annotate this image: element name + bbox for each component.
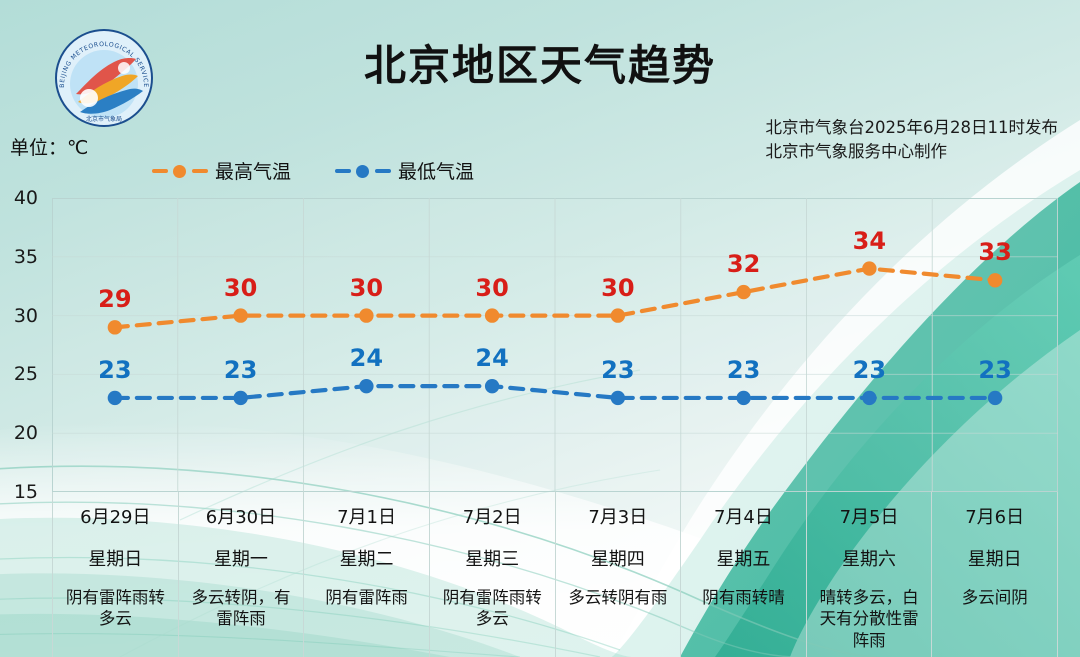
high-temp-label: 30 xyxy=(601,274,634,302)
day-weekday: 星期日 xyxy=(53,545,178,571)
day-date: 6月29日 xyxy=(53,503,178,529)
day-weather-description: 多云转阴，有雷阵雨 xyxy=(179,587,304,630)
legend-marker-low-icon xyxy=(335,164,391,178)
legend-item-high-temp: 最高气温 xyxy=(152,157,291,184)
day-weather-description: 多云转阴有雨 xyxy=(556,587,681,608)
chart-legend: 最高气温 最低气温 xyxy=(152,157,474,184)
y-axis-tick: 25 xyxy=(14,363,38,385)
high-temp-label: 34 xyxy=(853,227,886,255)
high-temp-label: 32 xyxy=(727,250,760,278)
data-point-high xyxy=(862,261,876,275)
high-temp-label: 29 xyxy=(98,285,131,313)
data-point-high xyxy=(108,320,122,334)
data-point-high xyxy=(485,308,499,322)
forecast-day-column[interactable]: 7月6日星期日多云间阴 xyxy=(931,492,1058,657)
issuer-line-1: 北京市气象台2025年6月28日11时发布 xyxy=(766,116,1058,140)
day-weather-description: 阴有雷阵雨 xyxy=(304,587,429,608)
data-point-low xyxy=(108,391,122,405)
high-temp-label: 33 xyxy=(978,238,1011,266)
day-weekday: 星期二 xyxy=(304,545,429,571)
forecast-day-column[interactable]: 6月29日星期日阴有雷阵雨转多云 xyxy=(52,492,178,657)
day-weekday: 星期日 xyxy=(932,545,1057,571)
forecast-day-column[interactable]: 7月3日星期四多云转阴有雨 xyxy=(555,492,681,657)
data-point-low xyxy=(233,391,247,405)
forecast-table: 6月29日星期日阴有雷阵雨转多云6月30日星期一多云转阴，有雷阵雨7月1日星期二… xyxy=(52,492,1058,657)
day-weekday: 星期五 xyxy=(681,545,806,571)
day-date: 7月5日 xyxy=(807,503,932,529)
day-date: 7月3日 xyxy=(556,503,681,529)
y-axis-tick: 20 xyxy=(14,422,38,444)
low-temp-label: 23 xyxy=(224,356,257,384)
y-axis-tick: 40 xyxy=(14,187,38,209)
unit-label: 单位：℃ xyxy=(10,133,88,160)
data-point-low xyxy=(988,391,1002,405)
day-weather-description: 多云间阴 xyxy=(932,587,1057,608)
day-weekday: 星期四 xyxy=(556,545,681,571)
data-point-high xyxy=(988,273,1002,287)
legend-item-low-temp: 最低气温 xyxy=(335,157,474,184)
day-weather-description: 阴有雨转晴 xyxy=(681,587,806,608)
day-date: 7月4日 xyxy=(681,503,806,529)
data-point-low xyxy=(485,379,499,393)
low-temp-label: 23 xyxy=(727,356,760,384)
day-date: 7月2日 xyxy=(430,503,555,529)
data-point-low xyxy=(611,391,625,405)
y-axis-tick: 15 xyxy=(14,481,38,503)
issuer-info: 北京市气象台2025年6月28日11时发布 北京市气象服务中心制作 xyxy=(766,116,1058,164)
high-temp-label: 30 xyxy=(475,274,508,302)
forecast-day-column[interactable]: 7月2日星期三阴有雷阵雨转多云 xyxy=(429,492,555,657)
page-title: 北京地区天气趋势 xyxy=(0,32,1080,93)
weather-trend-poster: BEIJING METEOROLOGICAL SERVICE 北京市气象局 北京… xyxy=(0,0,1080,657)
forecast-day-column[interactable]: 7月1日星期二阴有雷阵雨 xyxy=(303,492,429,657)
data-point-high xyxy=(359,308,373,322)
low-temp-label: 23 xyxy=(853,356,886,384)
day-weekday: 星期三 xyxy=(430,545,555,571)
data-point-low xyxy=(862,391,876,405)
day-date: 6月30日 xyxy=(179,503,304,529)
data-point-low xyxy=(359,379,373,393)
high-temp-label: 30 xyxy=(350,274,383,302)
high-temp-label: 30 xyxy=(224,274,257,302)
y-axis: 403530252015 xyxy=(0,198,46,492)
low-temp-label: 24 xyxy=(475,344,508,372)
y-axis-tick: 30 xyxy=(14,305,38,327)
data-point-high xyxy=(611,308,625,322)
legend-label-low: 最低气温 xyxy=(398,157,474,184)
y-axis-tick: 35 xyxy=(14,246,38,268)
day-weather-description: 晴转多云，白天有分散性雷阵雨 xyxy=(807,587,932,651)
day-date: 7月1日 xyxy=(304,503,429,529)
low-temp-label: 23 xyxy=(978,356,1011,384)
forecast-day-column[interactable]: 7月4日星期五阴有雨转晴 xyxy=(680,492,806,657)
low-temp-label: 24 xyxy=(350,344,383,372)
day-weekday: 星期一 xyxy=(179,545,304,571)
data-point-low xyxy=(736,391,750,405)
low-temp-label: 23 xyxy=(98,356,131,384)
legend-marker-high-icon xyxy=(152,164,208,178)
day-weather-description: 阴有雷阵雨转多云 xyxy=(430,587,555,630)
day-weekday: 星期六 xyxy=(807,545,932,571)
data-point-high xyxy=(233,308,247,322)
svg-text:北京市气象局: 北京市气象局 xyxy=(86,115,122,123)
forecast-day-column[interactable]: 7月5日星期六晴转多云，白天有分散性雷阵雨 xyxy=(806,492,932,657)
forecast-day-column[interactable]: 6月30日星期一多云转阴，有雷阵雨 xyxy=(178,492,304,657)
legend-label-high: 最高气温 xyxy=(215,157,291,184)
day-weather-description: 阴有雷阵雨转多云 xyxy=(53,587,178,630)
low-temp-label: 23 xyxy=(601,356,634,384)
issuer-line-2: 北京市气象服务中心制作 xyxy=(766,140,1058,164)
data-point-high xyxy=(736,285,750,299)
day-date: 7月6日 xyxy=(932,503,1057,529)
temperature-chart xyxy=(52,198,1058,492)
